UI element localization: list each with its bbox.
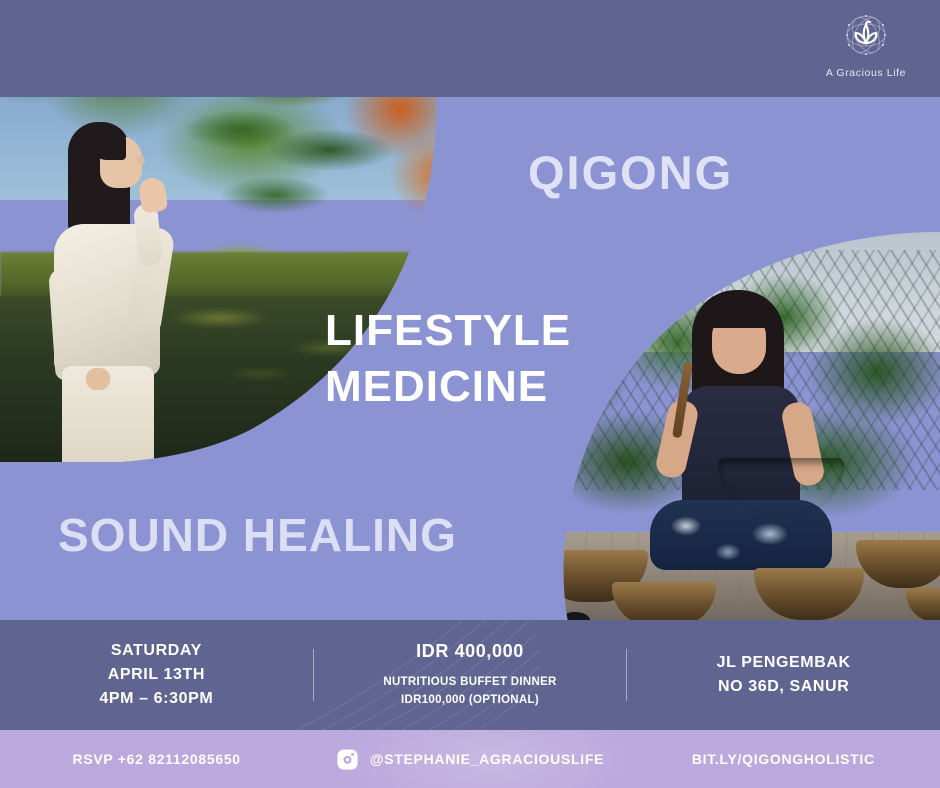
event-info-bar: SATURDAY APRIL 13TH 4PM – 6:30PM IDR 400… [0, 620, 940, 730]
event-time: 4PM – 6:30PM [8, 687, 305, 711]
instagram-contact[interactable]: @STEPHANIE_AGRACIOUSLIFE [313, 748, 626, 771]
singing-bowl [612, 582, 716, 622]
instagram-handle[interactable]: @STEPHANIE_AGRACIOUSLIFE [370, 751, 604, 767]
registration-link[interactable]: BIT.LY/QIGONGHOLISTIC [627, 751, 940, 767]
header-band: A Gracious Life [0, 0, 940, 97]
headline-sound-healing: SOUND HEALING [58, 508, 457, 562]
event-day: SATURDAY [8, 639, 305, 663]
lotus-flower-of-life-icon [835, 8, 897, 66]
sound-healer [656, 290, 826, 550]
qigong-practitioner [48, 118, 188, 462]
brand-name: A Gracious Life [826, 67, 906, 79]
event-price-column: IDR 400,000 NUTRITIOUS BUFFET DINNER IDR… [314, 641, 627, 709]
headline-lifestyle-line2: MEDICINE [325, 359, 571, 415]
event-poster: A Gracious Life QIGONG LIFESTYLE MEDICIN… [0, 0, 940, 788]
sound-healing-photo [508, 232, 940, 622]
event-location-column: JL PENGEMBAK NO 36D, SANUR [627, 651, 940, 700]
headline-lifestyle-line1: LIFESTYLE [325, 303, 571, 359]
ticket-price: IDR 400,000 [322, 641, 619, 662]
instagram-icon[interactable] [336, 748, 359, 771]
dinner-label: NUTRITIOUS BUFFET DINNER [322, 674, 619, 691]
location-area: NO 36D, SANUR [635, 675, 932, 699]
tingsha-cymbal [534, 600, 564, 616]
location-street: JL PENGEMBAK [635, 651, 932, 675]
rsvp-phone[interactable]: RSVP +62 82112085650 [0, 751, 313, 767]
event-date-column: SATURDAY APRIL 13TH 4PM – 6:30PM [0, 639, 313, 712]
brand-logo: A Gracious Life [810, 8, 922, 90]
event-date: APRIL 13TH [8, 663, 305, 687]
headline-lifestyle-medicine: LIFESTYLE MEDICINE [325, 303, 571, 416]
headline-qigong: QIGONG [528, 145, 733, 200]
dinner-price: IDR100,000 (OPTIONAL) [322, 692, 619, 709]
contact-footer: RSVP +62 82112085650 @STEPHANIE_AGRACIOU… [0, 730, 940, 788]
